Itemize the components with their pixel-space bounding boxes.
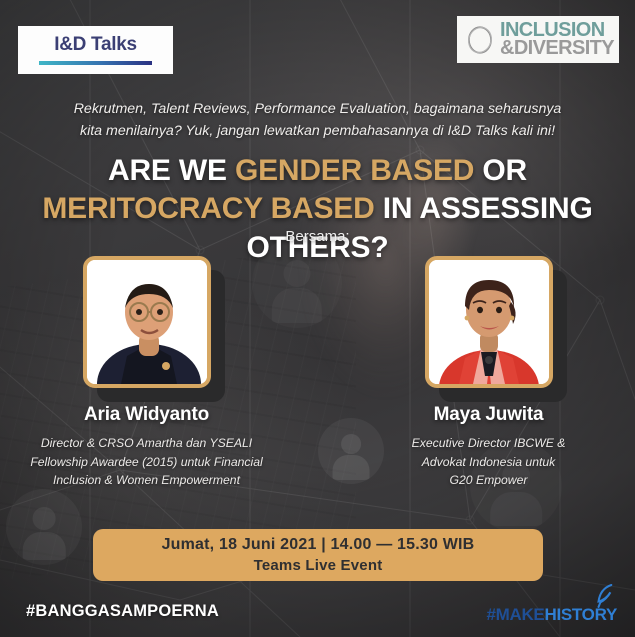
intro-line-2: kita menilainya? Yuk, jangan lewatkan pe… bbox=[38, 120, 597, 142]
brand-badge-underline bbox=[39, 61, 152, 65]
inclusion-diversity-logo: INCLUSION &DIVERSITY bbox=[457, 16, 619, 63]
makehistory-prefix: #MAKE bbox=[486, 605, 544, 624]
speaker-title-line: Fellowship Awardee (2015) untuk Financia… bbox=[22, 453, 272, 472]
speaker-title-line: Advokat Indonesia untuk bbox=[379, 453, 599, 472]
avatar bbox=[425, 256, 553, 388]
speaker-name-aria: Aria Widyanto bbox=[62, 404, 232, 426]
portrait-aria-widyanto bbox=[87, 260, 207, 384]
footer-hashtag: #BANGGASAMPOERNA bbox=[26, 602, 219, 621]
speaker-title-line: Inclusion & Women Empowerment bbox=[22, 471, 272, 490]
speaker-title-aria: Director & CRSO Amartha dan YSEALI Fello… bbox=[22, 434, 272, 490]
speaker-card-maya: Maya Juwita Executive Director IBCWE & A… bbox=[404, 256, 574, 490]
ring-icon bbox=[463, 23, 497, 57]
makehistory-logo: #MAKEHISTORY bbox=[486, 606, 617, 623]
headline-highlight-1: GENDER BASED bbox=[235, 154, 474, 187]
event-poster: I&D Talks INCLUSION &DIVERSITY Rekrutmen… bbox=[0, 0, 635, 637]
logo-line-diversity: &DIVERSITY bbox=[500, 40, 614, 58]
speaker-title-line: G20 Empower bbox=[379, 471, 599, 490]
bersama-label: Bersama: bbox=[0, 228, 635, 245]
event-platform-line: Teams Live Event bbox=[254, 556, 383, 576]
speaker-card-aria: Aria Widyanto Director & CRSO Amartha da… bbox=[62, 256, 232, 490]
intro-paragraph: Rekrutmen, Talent Reviews, Performance E… bbox=[0, 98, 635, 142]
event-datetime-line: Jumat, 18 Juni 2021 | 14.00 — 15.30 WIB bbox=[162, 535, 475, 556]
page-title: ARE WE GENDER BASED OR MERITOCRACY BASED… bbox=[0, 152, 635, 267]
avatar bbox=[83, 256, 211, 388]
portrait-maya-juwita bbox=[429, 260, 549, 384]
speaker-title-maya: Executive Director IBCWE & Advokat Indon… bbox=[379, 434, 599, 490]
brand-badge-id-talks: I&D Talks bbox=[18, 26, 173, 74]
brand-badge-label: I&D Talks bbox=[54, 35, 136, 54]
event-datetime-banner: Jumat, 18 Juni 2021 | 14.00 — 15.30 WIB … bbox=[93, 529, 543, 581]
intro-line-1: Rekrutmen, Talent Reviews, Performance E… bbox=[38, 98, 597, 120]
logo-wordmark: INCLUSION &DIVERSITY bbox=[500, 22, 614, 57]
quill-icon bbox=[593, 583, 615, 609]
speaker-photo-wrap-maya bbox=[425, 256, 553, 388]
headline-part-1: ARE WE bbox=[108, 154, 235, 187]
speaker-name-maya: Maya Juwita bbox=[404, 404, 574, 426]
speakers-row: Aria Widyanto Director & CRSO Amartha da… bbox=[0, 256, 635, 490]
headline-highlight-2: MERITOCRACY BASED bbox=[42, 192, 374, 225]
headline-part-2: OR bbox=[474, 154, 527, 187]
speaker-title-line: Executive Director IBCWE & bbox=[379, 434, 599, 453]
speaker-title-line: Director & CRSO Amartha dan YSEALI bbox=[22, 434, 272, 453]
speaker-photo-wrap-aria bbox=[83, 256, 211, 388]
